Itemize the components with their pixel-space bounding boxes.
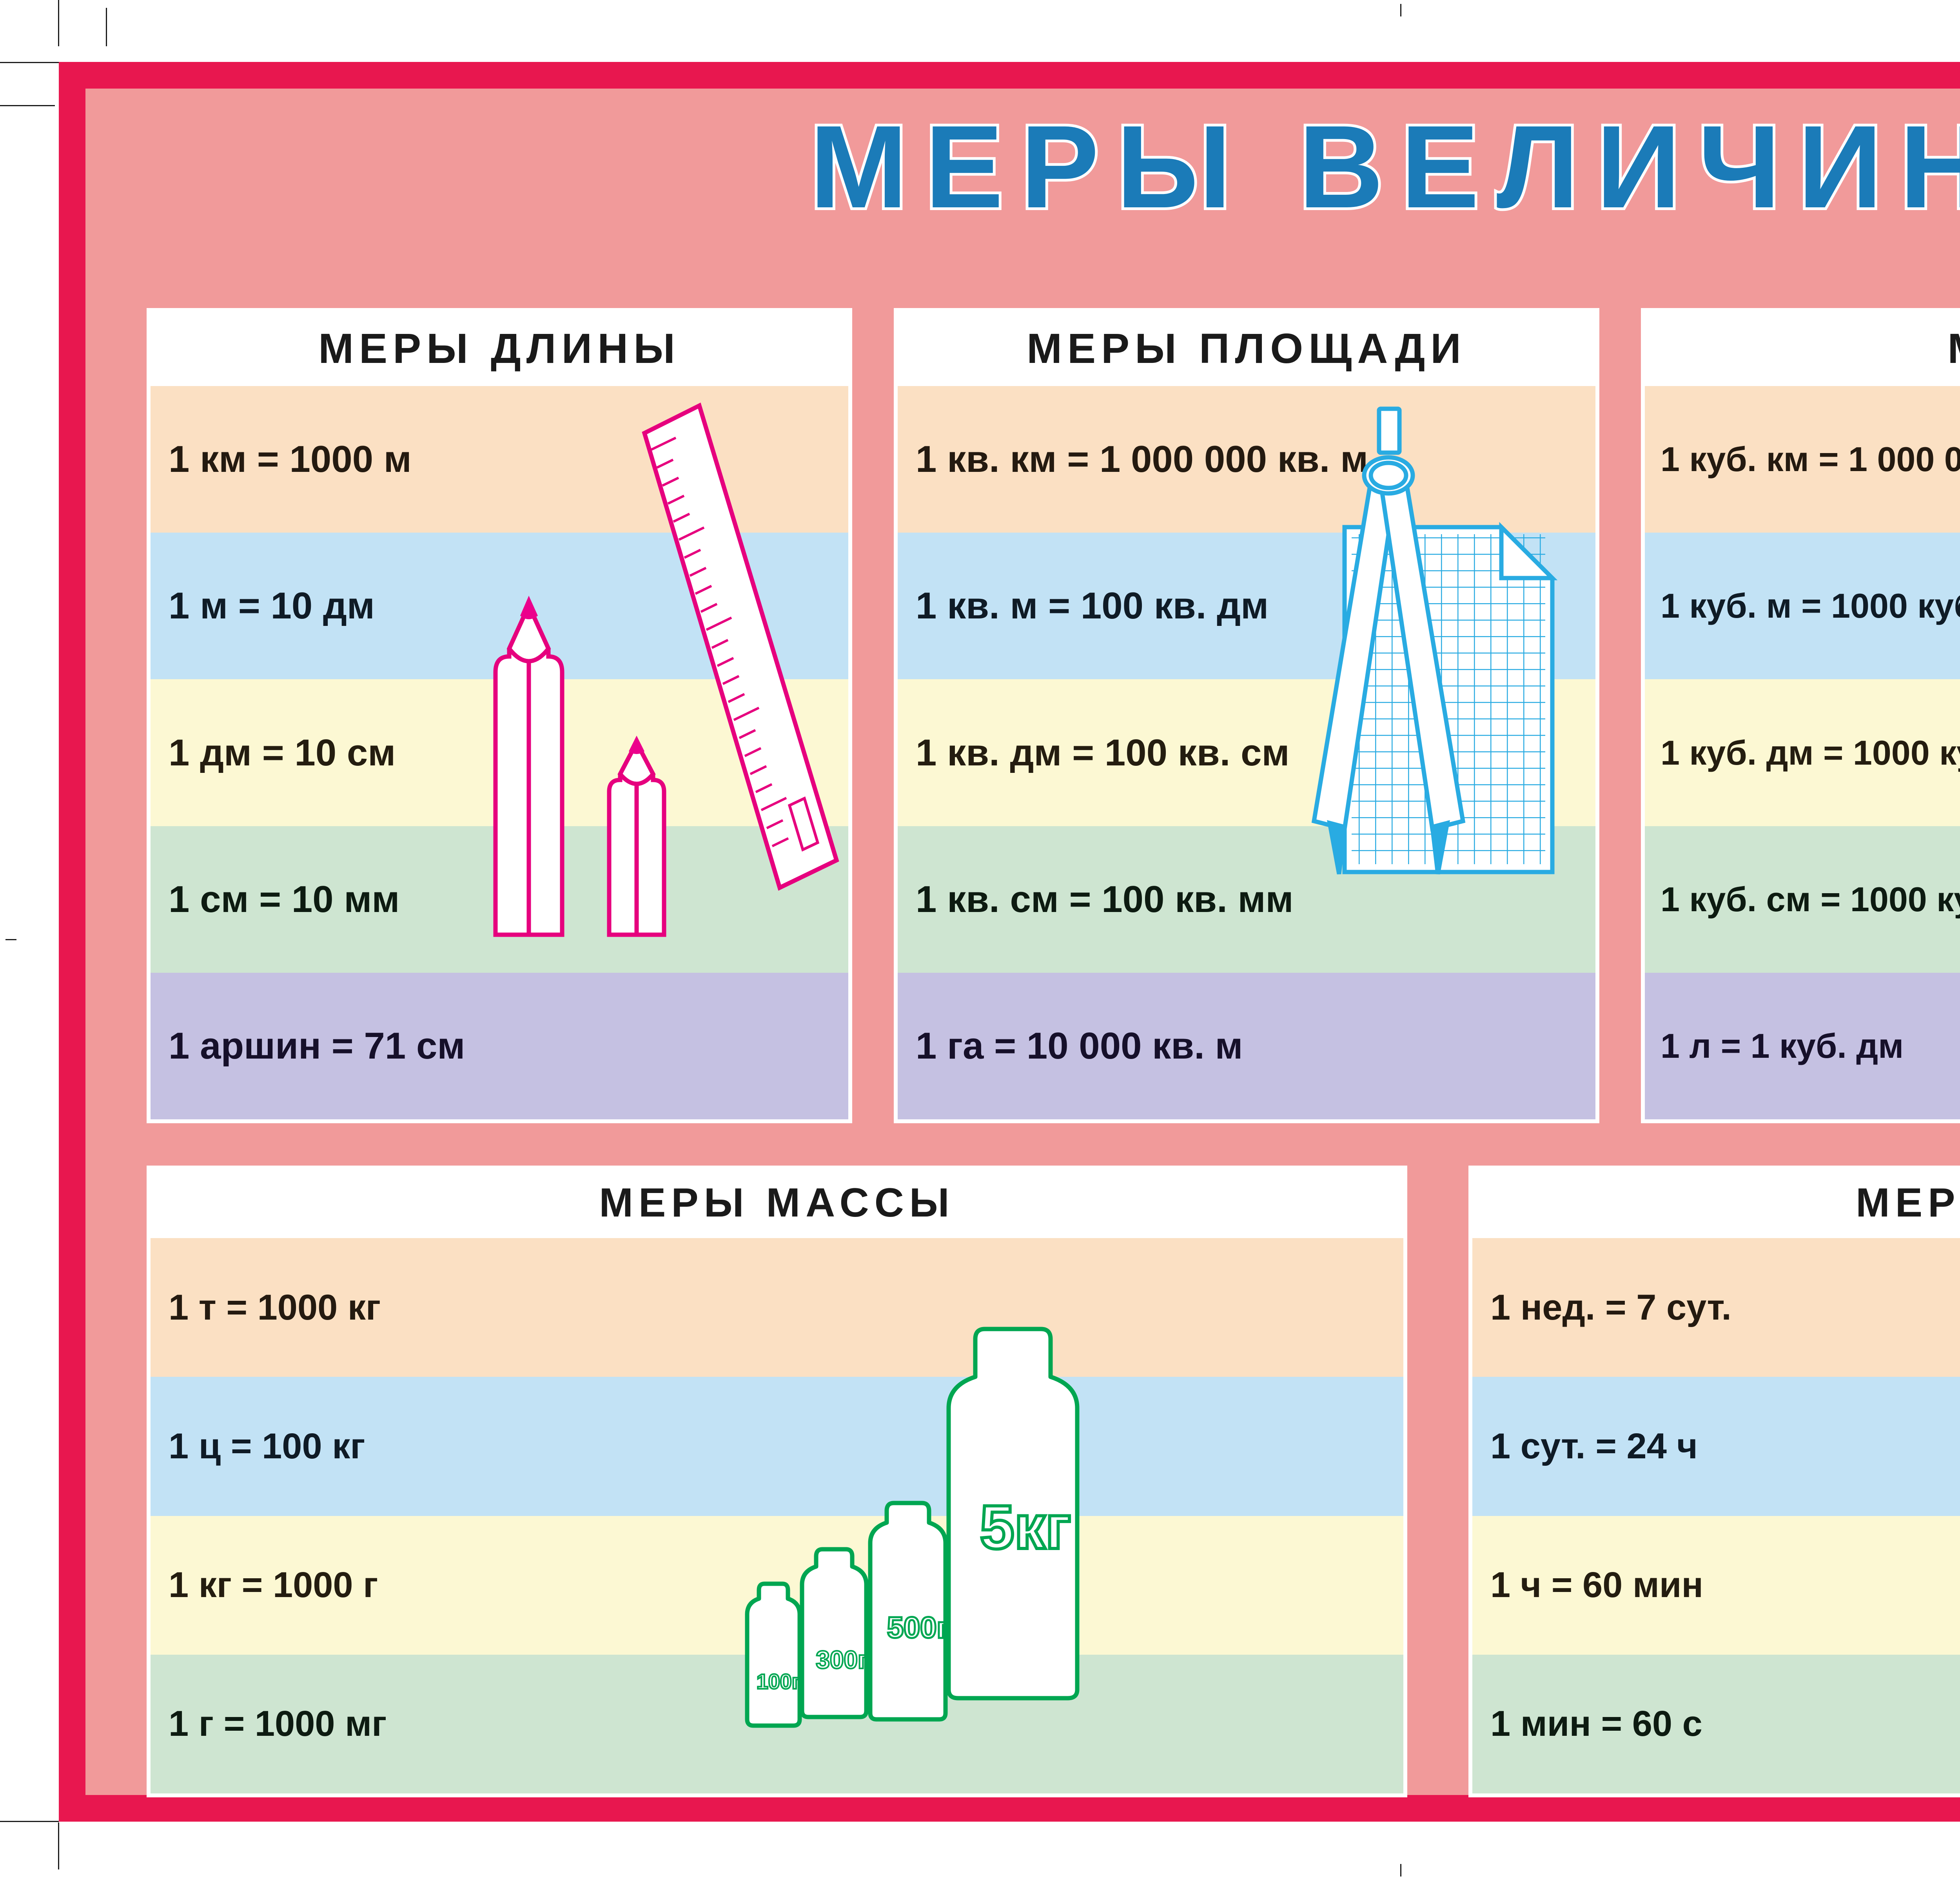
card-length: МЕРЫ ДЛИНЫ 1 км = 1000 м 1 м = 10 дм 1 д…	[147, 308, 852, 1123]
card-mass: МЕРЫ МАССЫ 1 т = 1000 кг 1 ц = 100 кг 1 …	[147, 1166, 1407, 1797]
row-area-1: 1 кв. км = 1 000 000 кв. м	[898, 386, 1595, 533]
row-time-4: 1 мин = 60 с	[1472, 1655, 1960, 1793]
row-length-3: 1 дм = 10 см	[151, 679, 848, 826]
poster-frame: МЕРЫ ВЕЛИЧИН АЙРИС ПРЕСС Меры величин. Н…	[59, 62, 1960, 1822]
poster-canvas: МЕРЫ ВЕЛИЧИН АЙРИС ПРЕСС Меры величин. Н…	[85, 89, 1960, 1795]
card-area-rows: 1 кв. км = 1 000 000 кв. м 1 кв. м = 100…	[898, 386, 1595, 1119]
row-area-2: 1 кв. м = 100 кв. дм	[898, 533, 1595, 679]
card-time-title: МЕРЫ ВРЕМЕНИ	[1472, 1169, 1960, 1238]
crop-mark-center-bottom	[1400, 1864, 1401, 1877]
crop-mark-top-v1	[58, 0, 59, 46]
crop-mark-bottom-h	[0, 1821, 59, 1822]
card-mass-title: МЕРЫ МАССЫ	[151, 1169, 1403, 1238]
card-volume: МЕРЫ ОБЪЁМА 1 куб. км = 1 000 000 000 ку…	[1641, 308, 1960, 1123]
card-area-title: МЕРЫ ПЛОЩАДИ	[898, 312, 1595, 386]
crop-mark-top-h2	[0, 105, 55, 106]
row-area-4: 1 кв. см = 100 кв. мм	[898, 826, 1595, 973]
row-mass-1: 1 т = 1000 кг	[151, 1238, 1403, 1377]
row-length-1: 1 км = 1000 м	[151, 386, 848, 533]
card-length-title: МЕРЫ ДЛИНЫ	[151, 312, 848, 386]
row-time-1: 1 нед. = 7 сут.	[1472, 1238, 1960, 1377]
row-volume-5: 1 л = 1 куб. дм	[1645, 973, 1960, 1119]
row-mass-2: 1 ц = 100 кг	[151, 1377, 1403, 1516]
row-time-2: 1 сут. = 24 ч	[1472, 1377, 1960, 1516]
row-volume-3: 1 куб. дм = 1000 куб. см	[1645, 679, 1960, 826]
crop-mark-bottom-v	[58, 1822, 59, 1869]
row-area-3: 1 кв. дм = 100 кв. см	[898, 679, 1595, 826]
card-mass-rows: 1 т = 1000 кг 1 ц = 100 кг 1 кг = 1000 г…	[151, 1238, 1403, 1793]
row-length-2: 1 м = 10 дм	[151, 533, 848, 679]
card-length-rows: 1 км = 1000 м 1 м = 10 дм 1 дм = 10 см 1…	[151, 386, 848, 1119]
card-volume-rows: 1 куб. км = 1 000 000 000 куб. м 1 куб. …	[1645, 386, 1960, 1119]
poster-title-text: МЕРЫ ВЕЛИЧИН	[809, 105, 1960, 228]
row-length-4: 1 см = 10 мм	[151, 826, 848, 973]
row-time-3: 1 ч = 60 мин	[1472, 1516, 1960, 1655]
page-title: МЕРЫ ВЕЛИЧИН	[85, 105, 1960, 228]
row-area-5: 1 га = 10 000 кв. м	[898, 973, 1595, 1119]
crop-mark-top-v2	[106, 8, 107, 46]
row-volume-2: 1 куб. м = 1000 куб. дм	[1645, 533, 1960, 679]
crop-mark-center-top	[1400, 4, 1401, 16]
card-volume-title: МЕРЫ ОБЪЁМА	[1645, 312, 1960, 386]
row-mass-3: 1 кг = 1000 г	[151, 1516, 1403, 1655]
row-volume-4: 1 куб. см = 1000 куб. мм	[1645, 826, 1960, 973]
card-area: МЕРЫ ПЛОЩАДИ 1 кв. км = 1 000 000 кв. м …	[894, 308, 1599, 1123]
row-mass-4: 1 г = 1000 мг	[151, 1655, 1403, 1793]
row-length-5: 1 аршин = 71 см	[151, 973, 848, 1119]
crop-mark-left-mid	[5, 939, 16, 940]
card-time: МЕРЫ ВРЕМЕНИ 1 нед. = 7 сут. 1 сут. = 24…	[1468, 1166, 1960, 1797]
crop-mark-top-h1	[0, 62, 59, 63]
card-time-rows: 1 нед. = 7 сут. 1 сут. = 24 ч 1 ч = 60 м…	[1472, 1238, 1960, 1793]
row-volume-1: 1 куб. км = 1 000 000 000 куб. м	[1645, 386, 1960, 533]
